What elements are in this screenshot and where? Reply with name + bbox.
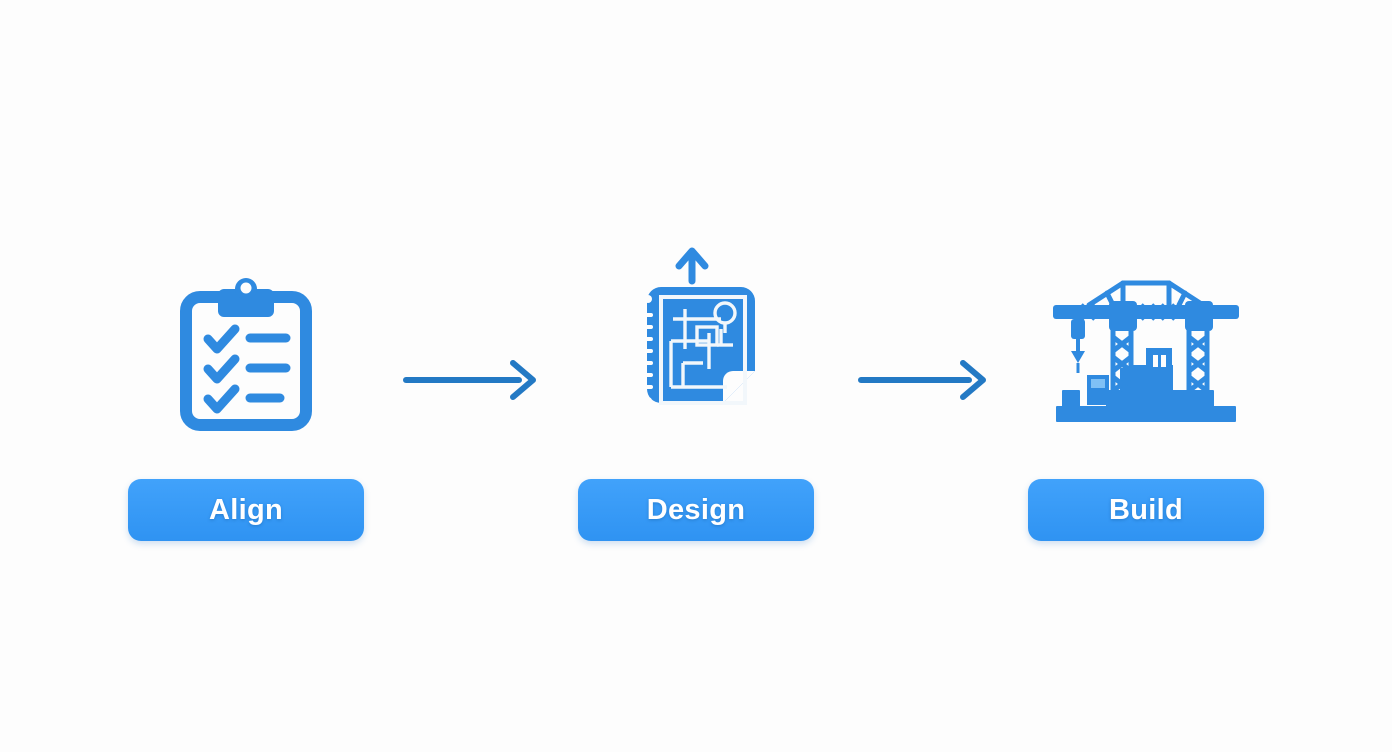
align-button-label: Align (209, 494, 283, 527)
design-icon-slot (546, 211, 846, 435)
arrow-right-icon (401, 359, 541, 401)
arrow-right-icon (851, 359, 991, 401)
build-icon-slot (996, 211, 1296, 435)
up-arrow-icon (679, 251, 705, 281)
align-button[interactable]: Align (128, 479, 364, 541)
design-button[interactable]: Design (578, 479, 814, 541)
connector-design-to-build (846, 211, 996, 541)
flow-step-design[interactable]: Design (546, 211, 846, 541)
blueprint-document-icon (621, 241, 771, 431)
connector-align-to-design (396, 211, 546, 541)
clipboard-checklist-icon (180, 279, 312, 431)
build-button[interactable]: Build (1028, 479, 1264, 541)
design-button-label: Design (647, 494, 746, 527)
flow-step-align[interactable]: Align (96, 211, 396, 541)
build-button-label: Build (1109, 494, 1183, 527)
flow-step-build[interactable]: Build (996, 211, 1296, 541)
align-icon-slot (96, 211, 396, 435)
construction-crane-icon (1051, 279, 1241, 431)
process-flow-diagram: Align (0, 0, 1392, 752)
